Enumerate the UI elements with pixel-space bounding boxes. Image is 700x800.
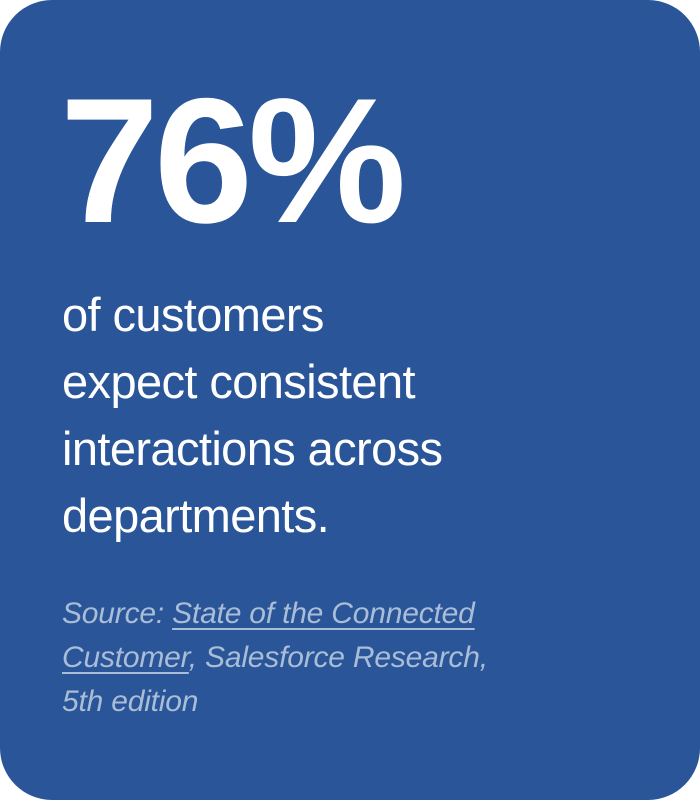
source-link-continuation[interactable]: Customer bbox=[62, 641, 189, 674]
source-line-2: Customer, Salesforce Research, bbox=[62, 636, 602, 680]
stat-body-line-4: departments. bbox=[62, 482, 592, 549]
stat-card: 76% of customers expect consistent inter… bbox=[0, 0, 700, 800]
source-label: Source: bbox=[62, 597, 172, 630]
stat-body-line-1: of customers bbox=[62, 281, 592, 348]
stat-body-line-3: interactions across bbox=[62, 415, 592, 482]
source-publisher: , Salesforce Research, bbox=[189, 641, 488, 674]
source-line-1: Source: State of the Connected bbox=[62, 592, 602, 636]
stat-figure: 76% bbox=[60, 72, 401, 250]
source-link[interactable]: State of the Connected bbox=[172, 597, 475, 630]
source-citation: Source: State of the Connected Customer,… bbox=[62, 592, 602, 724]
source-edition: 5th edition bbox=[62, 680, 602, 724]
stat-body-line-2: expect consistent bbox=[62, 348, 592, 415]
stat-statement: of customers expect consistent interacti… bbox=[62, 281, 592, 549]
